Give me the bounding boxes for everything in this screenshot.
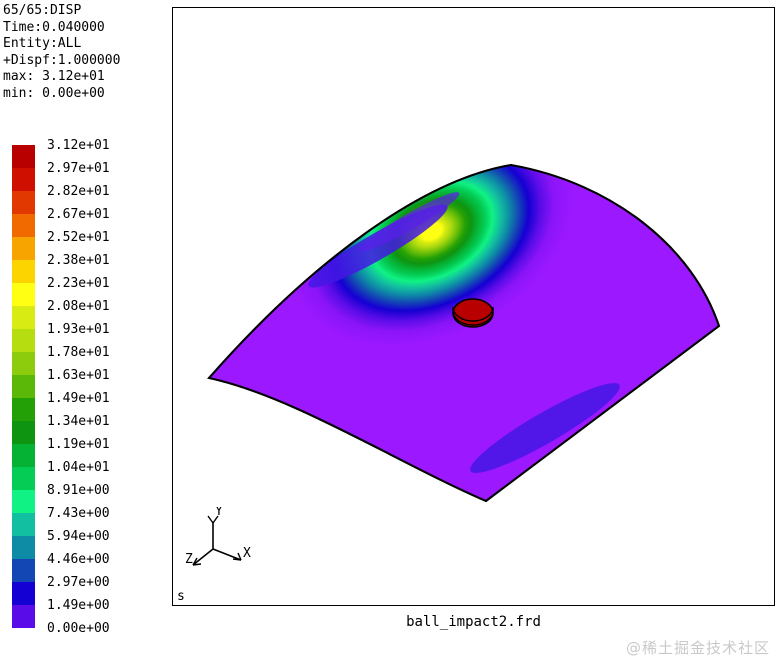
legend-swatch: [12, 352, 35, 375]
legend-swatch: [12, 421, 35, 444]
legend-label: 1.19e+01: [47, 438, 110, 451]
legend-swatch: [12, 467, 35, 490]
legend-swatch: [12, 237, 35, 260]
legend-label: 2.97e+00: [47, 576, 110, 589]
legend-label: 7.43e+00: [47, 507, 110, 520]
legend-swatch: [12, 582, 35, 605]
legend-swatch: [12, 444, 35, 467]
legend-label: 1.04e+01: [47, 461, 110, 474]
legend-label: 2.82e+01: [47, 185, 110, 198]
legend-label: 2.67e+01: [47, 208, 110, 221]
surface-mode-indicator: s: [177, 590, 185, 603]
legend-swatch: [12, 145, 35, 168]
legend-label: 3.12e+01: [47, 139, 110, 152]
legend-label: 5.94e+00: [47, 530, 110, 543]
info-time: Time:0.040000: [3, 20, 169, 37]
legend-swatch: [12, 260, 35, 283]
legend-swatch: [12, 513, 35, 536]
legend-label: 2.23e+01: [47, 277, 110, 290]
impactor-ball: [453, 299, 493, 327]
legend-swatch: [12, 398, 35, 421]
axis-label-z: Z: [185, 552, 193, 567]
legend-label: 0.00e+00: [47, 622, 110, 635]
legend-label: 1.93e+01: [47, 323, 110, 336]
legend-label: 2.97e+01: [47, 162, 110, 175]
legend-label: 1.49e+00: [47, 599, 110, 612]
color-legend[interactable]: 3.12e+012.97e+012.82e+012.67e+012.52e+01…: [12, 145, 110, 651]
axis-label-x: X: [243, 546, 251, 561]
legend-label: 1.78e+01: [47, 346, 110, 359]
legend-swatch: [12, 559, 35, 582]
legend-swatch: [12, 628, 35, 651]
info-dispf: +Dispf:1.000000: [3, 53, 169, 70]
model-info-block: 65/65:DISP Time:0.040000 Entity:ALL +Dis…: [3, 3, 169, 102]
info-entity: Entity:ALL: [3, 36, 169, 53]
legend-label: 4.46e+00: [47, 553, 110, 566]
watermark: @稀土掘金技术社区: [626, 637, 770, 658]
legend-label: 1.49e+01: [47, 392, 110, 405]
info-max: max: 3.12e+01: [3, 69, 169, 86]
cgx-viewport: 65/65:DISP Time:0.040000 Entity:ALL +Dis…: [0, 0, 784, 672]
legend-swatch: [12, 168, 35, 191]
legend-label: 1.63e+01: [47, 369, 110, 382]
info-step: 65/65:DISP: [3, 3, 169, 20]
legend-swatch: [12, 605, 35, 628]
legend-label: 2.08e+01: [47, 300, 110, 313]
legend-swatch: [12, 490, 35, 513]
legend-row[interactable]: 0.00e+00: [12, 628, 110, 651]
legend-label: 8.91e+00: [47, 484, 110, 497]
axis-label-y: Y: [215, 507, 223, 519]
legend-swatch: [12, 329, 35, 352]
legend-swatch: [12, 214, 35, 237]
legend-label: 2.52e+01: [47, 231, 110, 244]
legend-swatch: [12, 306, 35, 329]
dataset-filename: ball_impact2.frd: [172, 614, 775, 630]
plot-frame[interactable]: Y X Z s: [172, 7, 775, 606]
axes-triad: Y X Z: [183, 507, 273, 577]
info-min: min: 0.00e+00: [3, 86, 169, 103]
legend-swatch: [12, 283, 35, 306]
legend-swatch: [12, 375, 35, 398]
legend-label: 1.34e+01: [47, 415, 110, 428]
legend-label: 2.38e+01: [47, 254, 110, 267]
legend-swatch: [12, 536, 35, 559]
legend-swatch: [12, 191, 35, 214]
